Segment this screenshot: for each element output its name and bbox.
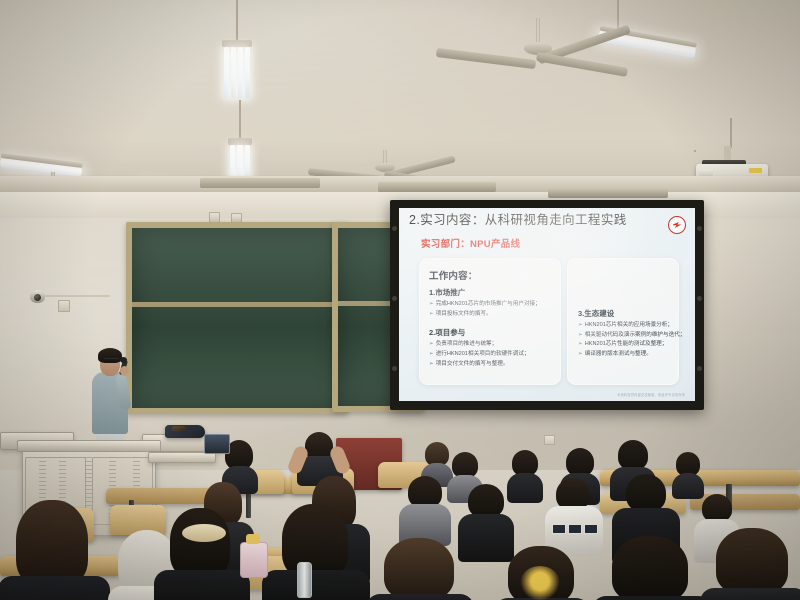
presenter-glasses [104,358,119,363]
board-lamp [548,188,668,198]
laptop-screen [204,434,230,454]
pendant-cord [239,100,241,138]
bullet-marker-icon: ➢ [578,332,583,338]
bullet-item: ➢HKN201芯片性能的测试及整理； [578,340,670,349]
section-heading: 1.市场推广 [429,287,552,298]
left-panel-heading: 工作内容： [429,268,552,282]
bullet-marker-icon: ➢ [578,322,583,328]
slide-subtitle: 实习部门：NPU产品线 [421,236,520,250]
bullet-marker-icon: ➢ [429,311,434,317]
sun-hat [182,524,226,542]
bullet-item: ➢项目交付文件的撰写与整理。 [429,360,552,369]
slide-title: 2.实习内容：从科研视角走向工程实践 [409,209,653,228]
bullet-marker-icon: ➢ [429,301,434,307]
bench-support [246,492,251,518]
presenter-hand [120,366,129,376]
wall-socket [58,300,70,312]
projector-cord [730,118,732,148]
bullet-marker-icon: ➢ [578,351,583,357]
wall-socket [544,435,555,445]
ceiling-fan [478,18,598,78]
flower-decoration [520,566,560,600]
bullet-marker-icon: ➢ [429,361,434,367]
bullet-marker-icon: ➢ [429,351,434,357]
pendant-light [222,40,252,98]
presentation-slide: 2.实习内容：从科研视角走向工程实践 实习部门：NPU产品线 工作内容： 1.市… [399,208,695,401]
security-camera [30,290,116,304]
slide-footer: 本资料仅供内部交流使用，未经许可请勿外传 [617,392,685,397]
thermos-lid [246,534,260,544]
projection-screen[interactable]: 2.实习内容：从科研视角走向工程实践 实习部门：NPU产品线 工作内容： 1.市… [390,200,704,410]
water-bottle [297,562,312,598]
bullet-item: ➢完成HKN201芯片的市场推广与用户对接； [429,300,552,309]
slide-left-panel: 工作内容： 1.市场推广 ➢完成HKN201芯片的市场推广与用户对接； ➢项目投… [419,258,561,385]
bullet-marker-icon: ➢ [578,341,583,347]
board-lamp [200,178,320,188]
section-heading: 2.项目参与 [429,327,552,338]
company-logo-icon [668,216,686,234]
wall-speaker [694,150,696,152]
classroom-photo: 2.实习内容：从科研视角走向工程实践 实习部门：NPU产品线 工作内容： 1.市… [0,0,800,600]
section-heading: 3.生态建设 [578,308,670,319]
pendant-cord [236,0,238,40]
pendant-light [228,138,252,180]
bullet-item: ➢项目投标文件的撰写。 [429,310,552,319]
bullet-item: ➢HKN201芯片相关的应用场景分析； [578,321,670,330]
slide-right-panel: 3.生态建设 ➢HKN201芯片相关的应用场景分析； ➢相关驱动代码及演示案例的… [567,258,679,385]
bullet-item: ➢进行HKN201相关项目的软硬件调试； [429,350,552,359]
thermos-cup [240,542,268,578]
bullet-item: ➢相关驱动代码及演示案例的维护与迭代； [578,331,670,340]
bullet-marker-icon: ➢ [429,341,434,347]
board-lamp [378,182,496,192]
jacket-on-desk [165,425,205,438]
microphone-head [120,357,127,363]
bullet-item: ➢编译器的版本测试与整理。 [578,350,670,359]
blackboard-left [126,222,348,414]
bullet-item: ➢负责项目的推进与统筹； [429,340,552,349]
